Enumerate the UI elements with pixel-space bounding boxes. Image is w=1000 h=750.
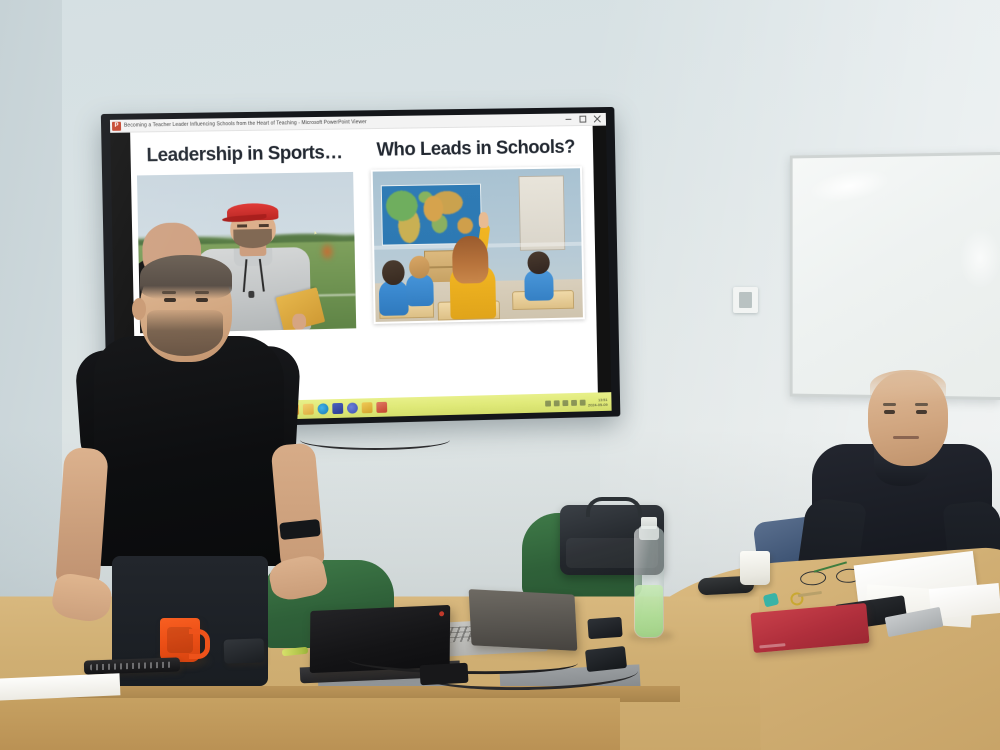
table-front-panel <box>0 698 620 750</box>
classroom-student <box>524 250 554 301</box>
slide-right-letterbox <box>593 126 612 393</box>
standing-presenter <box>48 258 348 678</box>
student-shirt <box>406 275 434 307</box>
seated-brow-right <box>915 403 928 406</box>
presenter-black-tshirt <box>94 336 284 566</box>
battery-icon[interactable] <box>579 399 585 405</box>
whiteboard-glare-secondary <box>961 229 1000 287</box>
presenter-beard <box>147 310 223 356</box>
clock-date: 2024-05-09 <box>588 402 608 407</box>
student-raising-hand <box>448 219 496 319</box>
seated-brow-left <box>883 403 896 406</box>
whiteboard-glare <box>808 164 891 207</box>
wall-light-switch[interactable] <box>733 287 758 313</box>
powerpoint-icon <box>112 121 121 130</box>
cloud-icon[interactable] <box>553 400 559 406</box>
student-shirt <box>524 270 554 301</box>
taskbar-clock[interactable]: 13:51 2024-05-09 <box>588 397 608 407</box>
orange-mug <box>160 618 200 662</box>
presenter-brow-left <box>162 291 176 294</box>
powerpoint-viewer-icon[interactable] <box>376 402 387 413</box>
student-long-hair <box>451 235 489 283</box>
close-button[interactable] <box>590 113 604 125</box>
coach-beard <box>234 228 272 248</box>
classroom-photo <box>370 167 585 325</box>
student-shirt <box>379 280 409 316</box>
system-tray: 13:51 2024-05-09 <box>545 397 608 408</box>
presenter-ear <box>132 298 146 320</box>
teams-icon[interactable] <box>347 403 358 414</box>
presenter-eye-right <box>196 298 208 302</box>
presenter-hand-left <box>50 571 115 624</box>
wall-whiteboard <box>790 152 1000 400</box>
slide-heading-right: Who Leads in Schools? <box>376 137 575 161</box>
student-head <box>527 251 549 275</box>
seated-eye-right <box>916 410 927 414</box>
mug-graphic <box>167 627 193 653</box>
slide-heading-left: Leadership in Sports… <box>146 142 342 166</box>
seated-head-highlight <box>870 370 946 402</box>
network-icon[interactable] <box>562 400 568 406</box>
presenter-arm-left <box>55 447 109 590</box>
presenter-brow-right <box>195 291 209 294</box>
window-controls <box>562 113 604 125</box>
black-smartphone <box>224 638 265 663</box>
meeting-room-scene: Becoming a Teacher Leader Influencing Sc… <box>0 0 1000 750</box>
student-head <box>409 255 430 279</box>
bottle-water-level <box>635 585 663 637</box>
white-cup <box>740 551 770 585</box>
silver-laptop[interactable] <box>469 589 578 651</box>
presenter-eye-left <box>164 298 176 302</box>
smartphone-center <box>587 617 622 639</box>
maximize-button[interactable] <box>576 113 590 125</box>
volume-icon[interactable] <box>571 399 577 405</box>
classroom-student <box>378 259 408 317</box>
minimize-button[interactable] <box>562 113 576 125</box>
presenter-hair <box>140 255 232 299</box>
seated-mouth <box>893 436 919 439</box>
classroom-student <box>405 255 433 307</box>
slide-column-right: Who Leads in Schools? <box>370 136 587 398</box>
bottle-neck <box>639 526 659 540</box>
smartphone-center-secondary <box>585 646 627 672</box>
classroom-door <box>518 175 565 250</box>
student-raised-hand <box>478 212 488 228</box>
seated-eye-left <box>884 410 895 414</box>
laptop-logo-dot <box>439 611 444 616</box>
notes-icon[interactable] <box>362 402 373 413</box>
chevron-up-icon[interactable] <box>545 400 551 406</box>
power-adapter <box>420 663 469 685</box>
water-bottle <box>634 528 664 638</box>
